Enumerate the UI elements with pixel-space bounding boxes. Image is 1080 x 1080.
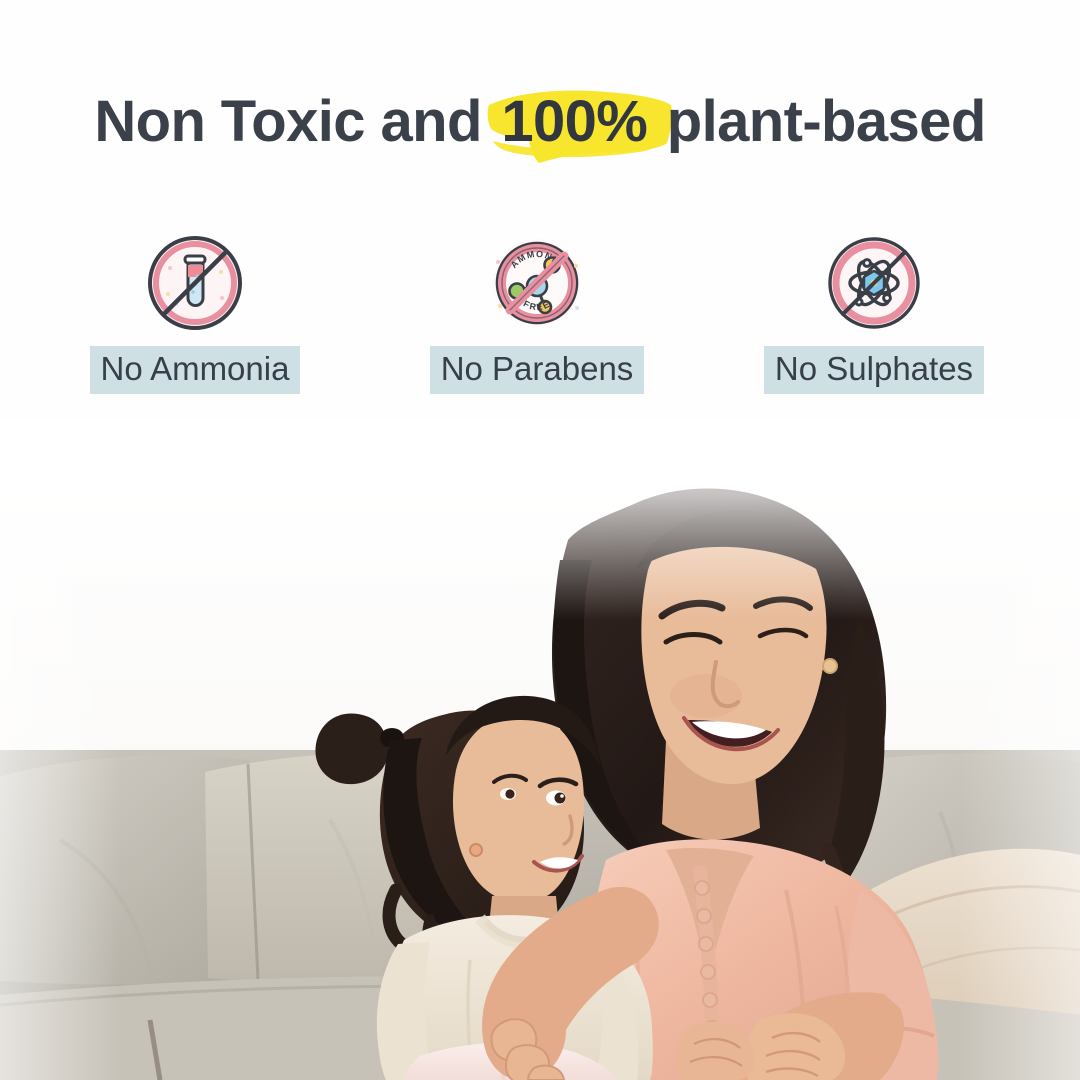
headline-container: Non Toxic and 100% plant-based — [0, 92, 1080, 153]
photo-illustration — [0, 420, 1080, 1080]
feature-badges-row: No Ammonia — [0, 232, 1080, 402]
no-ammonia-test-tube-icon — [144, 232, 246, 334]
badge-no-parabens: AMMONIA FREE No Parabens — [372, 232, 702, 394]
headline-highlight-value: 100% — [501, 89, 647, 154]
no-parabens-molecule-icon: AMMONIA FREE — [486, 232, 588, 334]
headline-part-two: plant-based — [667, 89, 986, 154]
badge-label-no-sulphates: No Sulphates — [764, 346, 984, 394]
badge-no-ammonia: No Ammonia — [30, 232, 360, 394]
badge-label-no-parabens: No Parabens — [430, 346, 645, 394]
headline-text: Non Toxic and 100% plant-based — [94, 92, 985, 153]
headline-highlight-group: 100% — [497, 92, 651, 153]
lifestyle-photo — [0, 420, 1080, 1080]
headline-part-one: Non Toxic and — [94, 89, 481, 154]
badge-no-sulphates: No Sulphates — [709, 232, 1039, 394]
badge-label-no-ammonia: No Ammonia — [90, 346, 301, 394]
promo-banner: Non Toxic and 100% plant-based — [0, 0, 1080, 1080]
no-sulphates-atom-icon — [823, 232, 925, 334]
